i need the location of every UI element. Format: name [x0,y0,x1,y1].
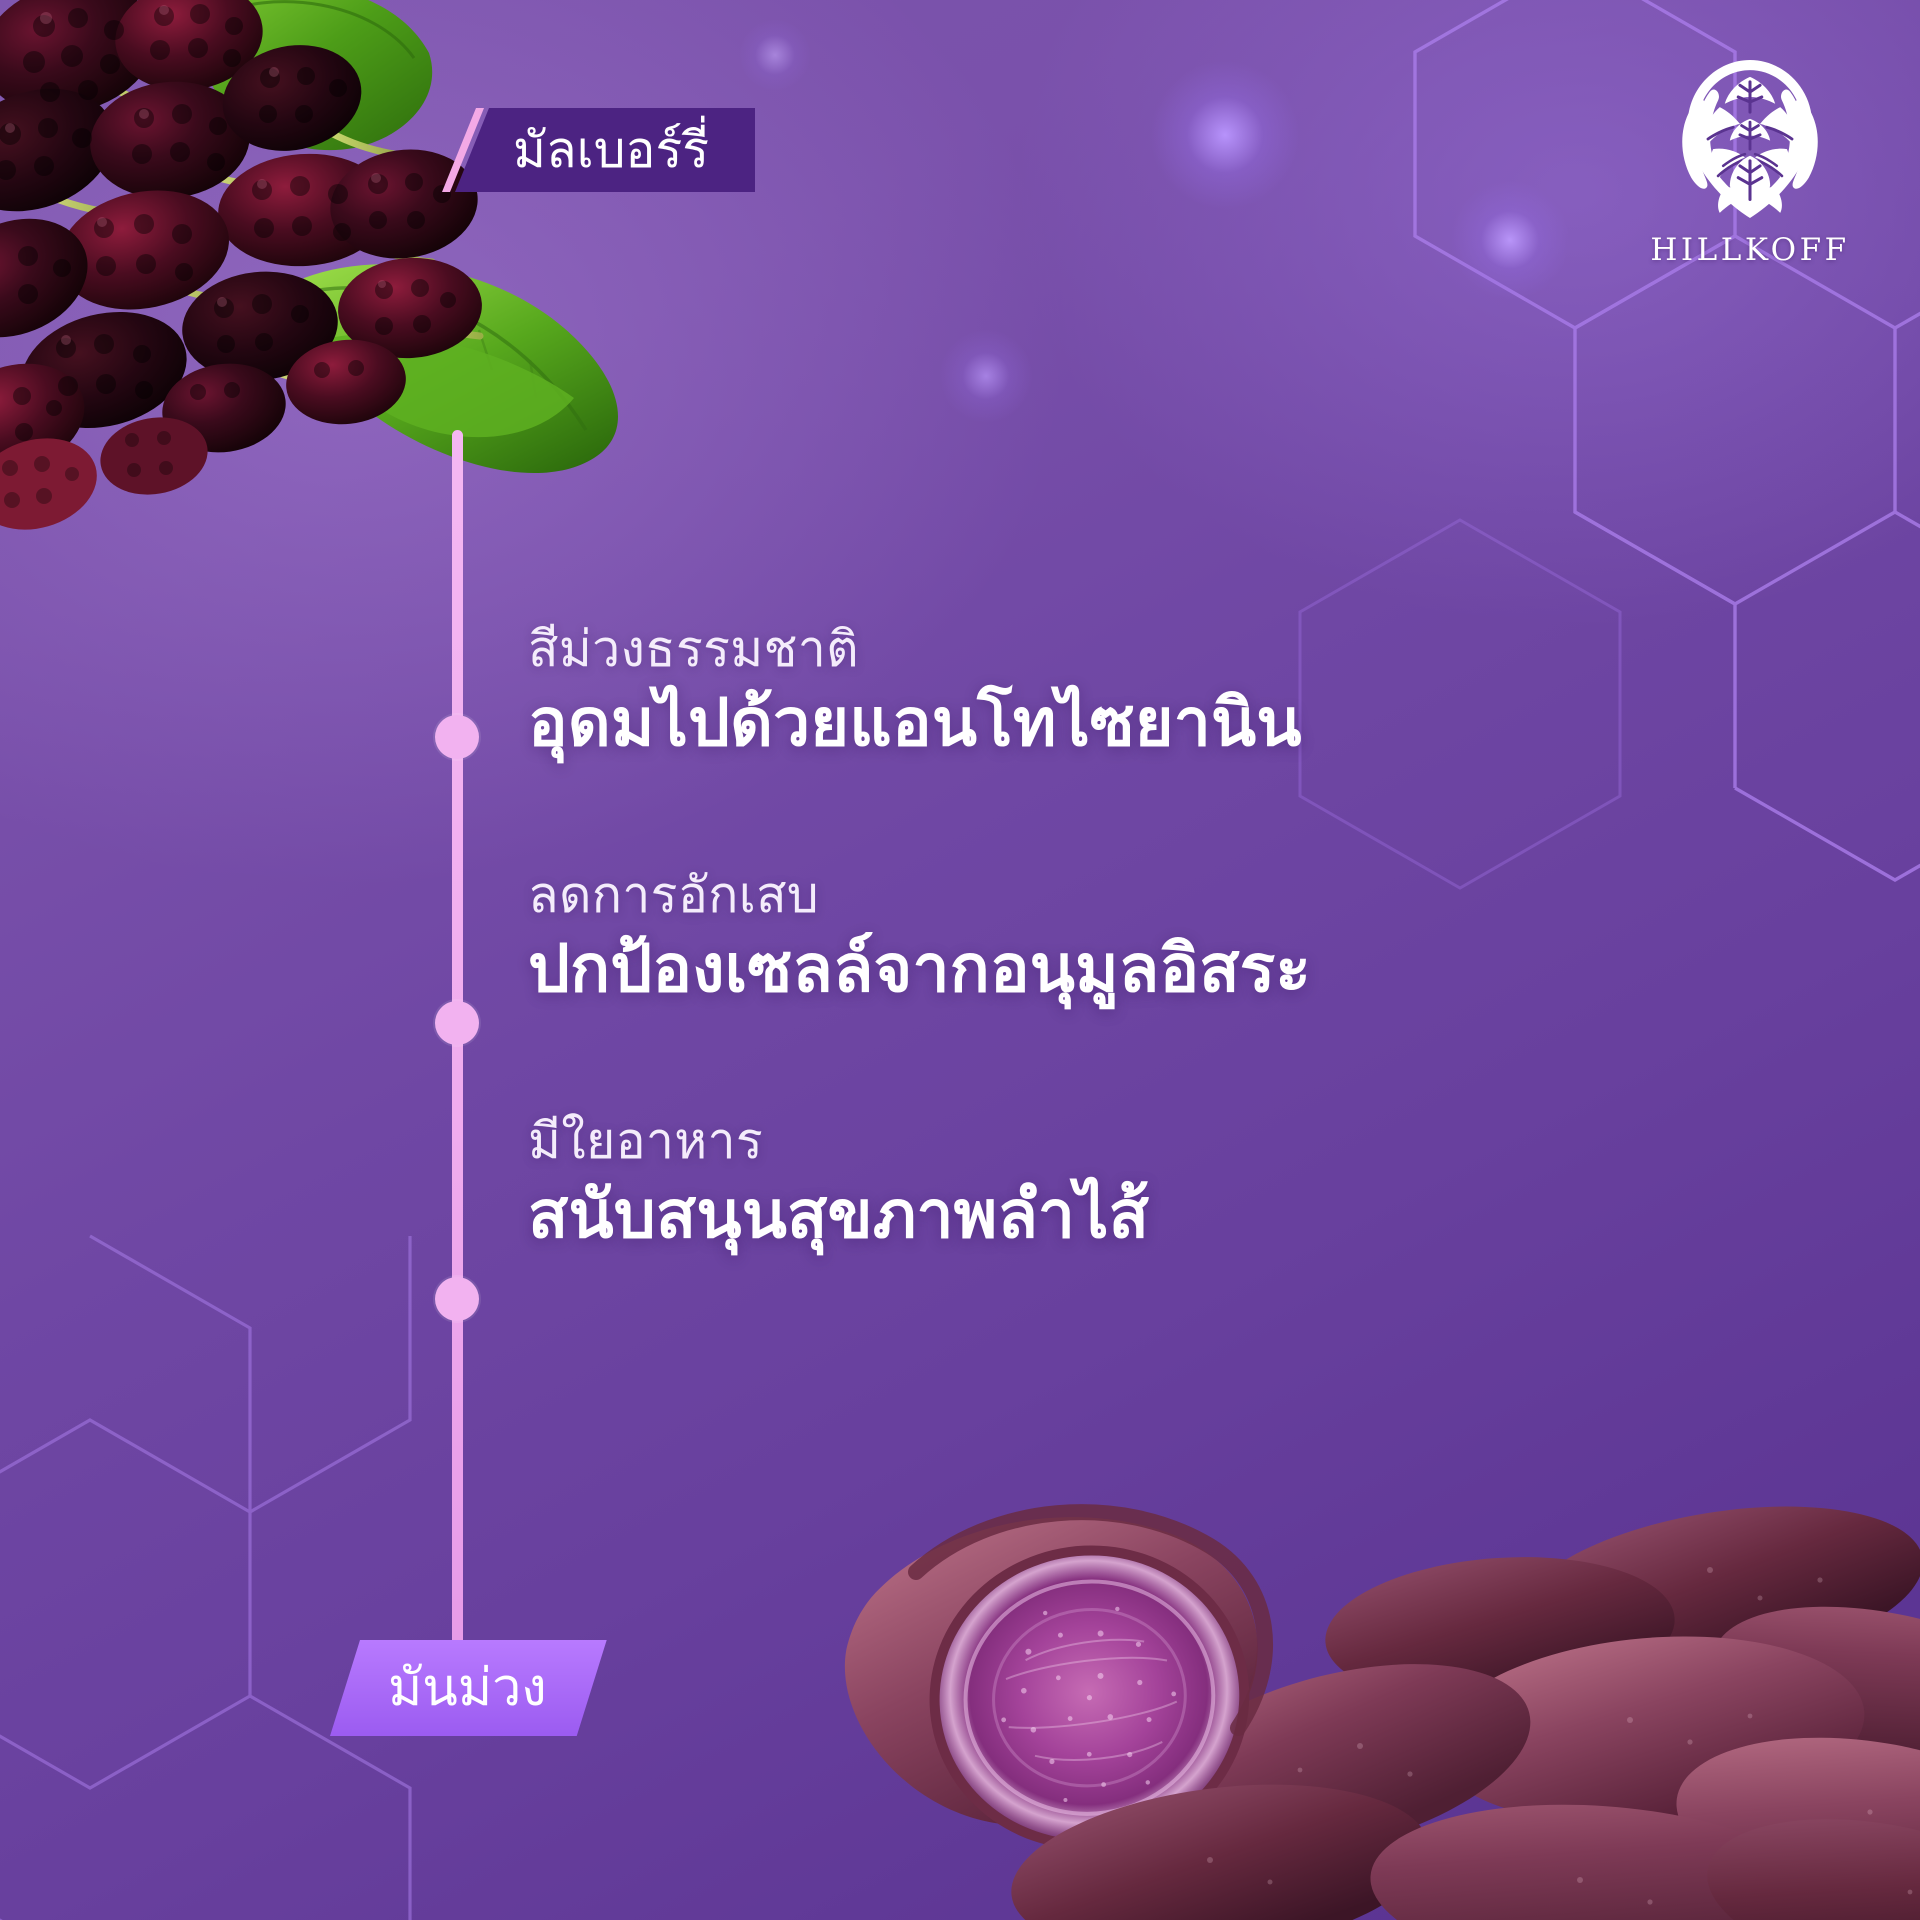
timeline-dot [435,1001,479,1045]
benefit-item: สีม่วงธรรมชาติ อุดมไปด้วยแอนโทไซยานิน [528,620,1778,762]
timeline-dot [435,715,479,759]
benefit-headline: ปกป้องเซลล์จากอนุมูลอิสระ [528,929,1778,1008]
glow-orb [1450,180,1570,300]
brand-wordmark: HILLKOFF [1645,235,1855,266]
sweet-potato-illustration-icon [520,1430,1920,1920]
mulberry-illustration-icon [0,0,774,598]
poster-canvas: มัลเบอร์รี่ สีม่วงธรรมชาติ อุดมไปด้วยแอน… [0,0,1920,1920]
glow-orb [940,330,1032,422]
bottom-badge-group: มันม่วง [330,1640,607,1736]
brand-logo: HILLKOFF [1645,55,1855,266]
badge-purple-sweet-potato[interactable]: มันม่วง [330,1640,607,1736]
benefit-headline: อุดมไปด้วยแอนโทไซยานิน [528,683,1778,762]
ornamental-circle-emblem-icon [1666,55,1834,223]
timeline-dot [435,1277,479,1321]
benefit-subtitle: ลดการอักเสบ [528,866,1778,925]
hillkoff-emblem-icon [1666,55,1834,223]
benefit-headline: สนับสนุนสุขภาพลำไส้ [528,1175,1778,1254]
benefit-item: มีใยอาหาร สนับสนุนสุขภาพลำไส้ [528,1112,1778,1254]
mulberry-fruit-photo [0,0,774,598]
benefit-subtitle: สีม่วงธรรมชาติ [528,620,1778,679]
glow-orb [1150,60,1300,210]
benefit-subtitle: มีใยอาหาร [528,1112,1778,1171]
badge-mulberry[interactable]: มัลเบอร์รี่ [455,108,755,192]
benefit-list: สีม่วงธรรมชาติ อุดมไปด้วยแอนโทไซยานิน ลด… [528,620,1778,1255]
purple-sweet-potato-photo [520,1430,1920,1920]
benefit-item: ลดการอักเสบ ปกป้องเซลล์จากอนุมูลอิสระ [528,866,1778,1008]
bottom-badge-label: มันม่วง [388,1662,547,1714]
